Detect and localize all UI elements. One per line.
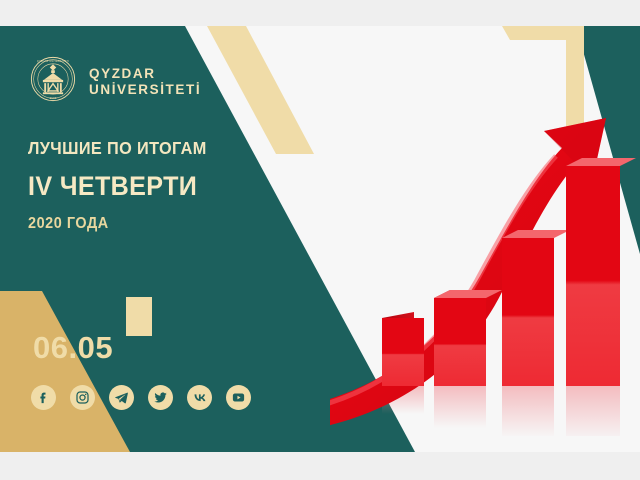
instagram-icon[interactable]: [70, 385, 95, 410]
chart-bar: [382, 312, 424, 386]
youtube-icon[interactable]: [226, 385, 251, 410]
telegram-icon[interactable]: [109, 385, 134, 410]
headline-block: ЛУЧШИЕ ПО ИТОГАМ IV ЧЕТВЕРТИ 2020 ГОДА: [28, 138, 258, 233]
vk-icon[interactable]: [187, 385, 212, 410]
chart-bar: [502, 230, 570, 386]
logo-line-1: QYZDAR: [89, 66, 201, 81]
chart-bar: [566, 158, 636, 386]
brand-logo: QYZDAR UNIVERSITETI 1978 QYZDAR UNİVERSİ…: [30, 56, 201, 107]
headline-line-1: ЛУЧШИЕ ПО ИТОГАМ: [28, 138, 242, 159]
logo-wordmark: QYZDAR UNİVERSİTETİ: [89, 66, 201, 96]
event-date: 06.05: [33, 330, 113, 366]
facebook-icon[interactable]: [31, 385, 56, 410]
headline-line-3: 2020 ГОДА: [28, 215, 242, 233]
social-links-row: [31, 385, 251, 410]
twitter-icon[interactable]: [148, 385, 173, 410]
university-seal-icon: QYZDAR UNIVERSITETI 1978: [30, 56, 76, 107]
poster-canvas: QYZDAR UNIVERSITETI 1978 QYZDAR UNİVERSİ…: [0, 26, 640, 452]
svg-text:QYZDAR UNIVERSITETI: QYZDAR UNIVERSITETI: [37, 60, 69, 63]
svg-text:1978: 1978: [50, 97, 57, 100]
logo-line-2: UNİVERSİTETİ: [89, 82, 201, 97]
growth-chart-illustration: [330, 36, 640, 436]
headline-line-2: IV ЧЕТВЕРТИ: [28, 171, 242, 202]
bar-reflections: [382, 386, 620, 436]
